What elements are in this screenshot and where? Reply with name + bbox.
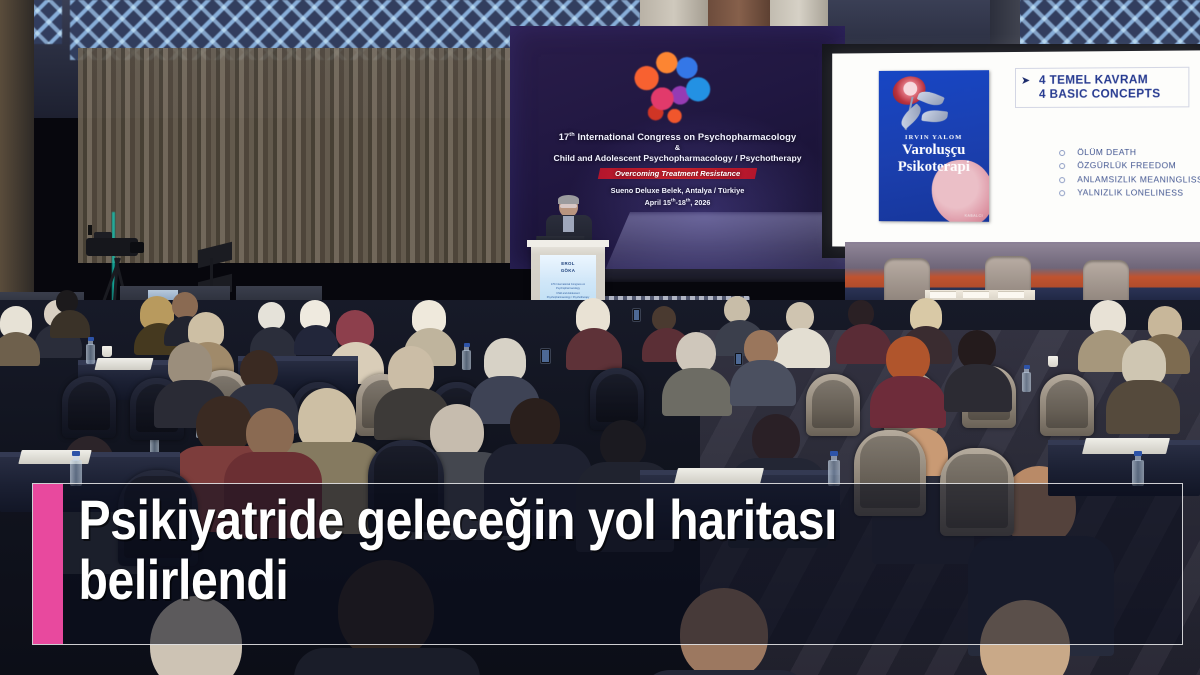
backdrop-venue: Sueno Deluxe Belek, Antalya / Türkiye — [510, 186, 845, 195]
smartphone — [540, 348, 551, 364]
panel-chair — [884, 258, 930, 304]
shoulders — [1106, 380, 1180, 434]
head — [848, 300, 874, 327]
shoulders — [870, 376, 946, 428]
notepad — [95, 358, 154, 370]
eyeglasses-icon — [560, 204, 577, 208]
list-item: ANLAMSIZLIK MEANINGLISSNESS — [1055, 173, 1200, 187]
wall-pillar-far-left — [0, 0, 34, 300]
headline-line-1: Psikiyatride geleceğin yol haritası — [78, 490, 1013, 550]
book-cover-image: IRVIN YALOM Varoluşçu Psikoterapi KABALC… — [879, 70, 989, 222]
list-item: YALNIZLIK LONELINESS — [1055, 186, 1200, 200]
slide-bullet-list: ÖLÜM DEATH ÖZGÜRLÜK FREEDOM ANLAMSIZLIK … — [1015, 146, 1200, 201]
lectern-name-line2: GÖKA — [561, 268, 575, 273]
backdrop-dates-prefix: April 15 — [645, 198, 671, 207]
shoulders — [662, 368, 732, 416]
lectern-name-line1: EROL — [561, 261, 574, 266]
book-title-line1: Varoluşçu — [879, 142, 989, 159]
name-card — [963, 291, 989, 298]
leaf-icon-2 — [898, 103, 925, 129]
paper-cup — [1048, 356, 1058, 367]
slide-heading-box: ➤ 4 TEMEL KAVRAM 4 BASIC CONCEPTS — [1015, 67, 1189, 108]
backdrop-title-rest: International Congress on Psychopharmaco… — [575, 132, 796, 142]
backdrop-title-line1: 17th International Congress on Psychopha… — [510, 132, 845, 142]
shoulders — [944, 364, 1012, 412]
video-camera — [86, 234, 146, 260]
lectern-speaker-name: EROL GÖKA — [540, 261, 596, 274]
book-publisher: KABALCI — [965, 214, 984, 218]
shoulders — [640, 670, 810, 675]
lectern-top — [527, 240, 609, 247]
shoulders — [730, 360, 796, 406]
speaker-shirt — [563, 216, 574, 232]
water-bottle — [828, 452, 840, 486]
camera-microphone — [88, 225, 92, 235]
smartphone — [734, 352, 743, 366]
book-author: IRVIN YALOM — [879, 134, 989, 141]
audience-chair — [62, 376, 116, 438]
list-item: ÖZGÜRLÜK FREEDOM — [1055, 159, 1200, 173]
book-title-line2: Psikoterapi — [879, 159, 989, 176]
paper-cup — [102, 346, 112, 357]
backdrop-dates-suffix: , 2026 — [690, 198, 710, 207]
camera-lens-icon — [130, 242, 144, 253]
backdrop-ribbon: Overcoming Treatment Resistance — [510, 167, 845, 180]
head — [510, 398, 560, 450]
head — [786, 302, 814, 331]
water-bottle — [462, 344, 471, 370]
leaf-icon-1 — [917, 88, 945, 109]
headline-text: Psikiyatride geleceğin yol haritası beli… — [63, 484, 1025, 644]
audience-chair — [1040, 374, 1094, 436]
backdrop-dates-mid: -18 — [676, 198, 686, 207]
backdrop-ampersand: & — [510, 143, 845, 152]
speaker-hair — [558, 195, 579, 204]
brain-logo-icon — [622, 42, 734, 128]
accent-bar — [33, 484, 63, 644]
news-photo: 17th International Congress on Psychopha… — [0, 0, 1200, 675]
lectern-sub-2: Psychopharmacology — [556, 287, 580, 290]
water-bottle — [86, 338, 95, 364]
water-bottle — [1132, 452, 1144, 486]
water-bottle — [1022, 366, 1031, 392]
head — [246, 408, 294, 458]
head — [258, 302, 285, 330]
arrow-bullet-icon: ➤ — [1021, 76, 1030, 87]
shoulders — [294, 648, 480, 675]
smartphone — [632, 308, 641, 322]
projector-light-cone — [600, 212, 850, 282]
slide-heading-line2: 4 BASIC CONCEPTS — [1039, 87, 1173, 102]
backdrop-ribbon-text: Overcoming Treatment Resistance — [615, 169, 740, 178]
backdrop-title-line2: Child and Adolescent Psychopharmacology … — [510, 153, 845, 163]
notepad — [1082, 438, 1170, 454]
leaf-icon-3 — [921, 109, 948, 123]
head — [724, 296, 750, 323]
lectern-sub-3: Child and Adolescent — [556, 292, 580, 295]
backdrop-title-number: 17 — [559, 132, 570, 142]
presentation-screen: IRVIN YALOM Varoluşçu Psikoterapi KABALC… — [832, 50, 1200, 249]
lectern-sub-4: Psychopharmacology / Psychotherapy — [547, 296, 590, 299]
name-card — [998, 291, 1024, 298]
head — [752, 414, 800, 464]
notepad — [674, 468, 764, 484]
headscarf — [298, 388, 356, 450]
backdrop-ribbon-shape: Overcoming Treatment Resistance — [598, 168, 758, 179]
name-card — [930, 291, 956, 298]
lectern-sub-1: 17th International Congress on — [551, 283, 585, 286]
list-item: ÖLÜM DEATH — [1055, 146, 1200, 160]
water-bottle — [70, 452, 82, 486]
headline-overlay-panel: Psikiyatride geleceğin yol haritası beli… — [32, 483, 1183, 645]
headscarf — [388, 346, 434, 394]
audience-chair — [806, 374, 860, 436]
head — [600, 420, 646, 468]
headline-line-2: belirlendi — [78, 550, 1013, 610]
